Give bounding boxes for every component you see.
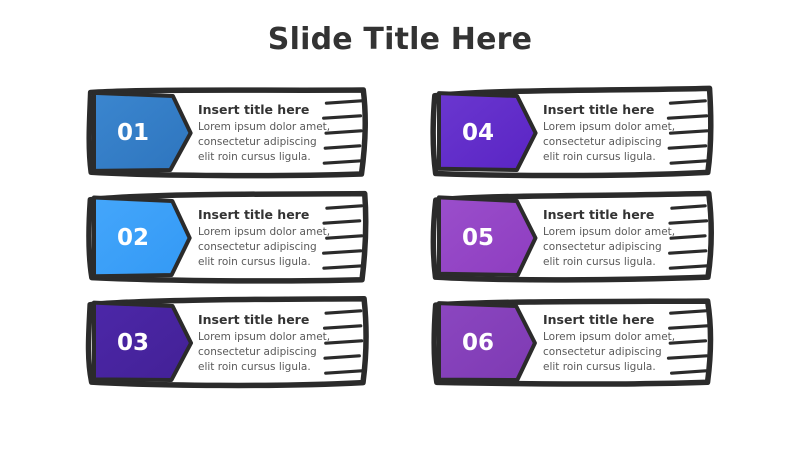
card-05[interactable]: 05Insert title hereLorem ipsum dolor ame… — [433, 193, 713, 283]
page-title: Slide Title Here — [0, 22, 800, 57]
card-title: Insert title here — [543, 312, 678, 328]
card-body: Lorem ipsum dolor amet, consectetur adip… — [543, 330, 678, 375]
slide-canvas: Slide Title Here 01Insert title hereLore… — [0, 0, 800, 450]
card-06[interactable]: 06Insert title hereLorem ipsum dolor ame… — [433, 298, 713, 388]
card-text-block: Insert title hereLorem ipsum dolor amet,… — [543, 312, 678, 375]
card-03[interactable]: 03Insert title hereLorem ipsum dolor ame… — [88, 298, 368, 388]
card-text-block: Insert title hereLorem ipsum dolor amet,… — [198, 102, 333, 165]
card-02[interactable]: 02Insert title hereLorem ipsum dolor ame… — [88, 193, 368, 283]
card-04[interactable]: 04Insert title hereLorem ipsum dolor ame… — [433, 88, 713, 178]
card-01[interactable]: 01Insert title hereLorem ipsum dolor ame… — [88, 88, 368, 178]
number-chevron — [94, 93, 191, 171]
card-title: Insert title here — [198, 207, 333, 223]
card-body: Lorem ipsum dolor amet, consectetur adip… — [198, 225, 333, 270]
card-body: Lorem ipsum dolor amet, consectetur adip… — [543, 120, 678, 165]
card-title: Insert title here — [198, 312, 333, 328]
number-chevron — [94, 303, 191, 380]
card-text-block: Insert title hereLorem ipsum dolor amet,… — [543, 207, 678, 270]
card-body: Lorem ipsum dolor amet, consectetur adip… — [543, 225, 678, 270]
card-title: Insert title here — [543, 207, 678, 223]
card-title: Insert title here — [198, 102, 333, 118]
number-chevron — [94, 197, 190, 276]
card-body: Lorem ipsum dolor amet, consectetur adip… — [198, 330, 333, 375]
number-chevron — [439, 197, 535, 275]
card-text-block: Insert title hereLorem ipsum dolor amet,… — [198, 312, 333, 375]
card-text-block: Insert title hereLorem ipsum dolor amet,… — [543, 102, 678, 165]
card-title: Insert title here — [543, 102, 678, 118]
number-chevron — [439, 303, 535, 380]
number-chevron — [439, 93, 536, 170]
card-text-block: Insert title hereLorem ipsum dolor amet,… — [198, 207, 333, 270]
card-body: Lorem ipsum dolor amet, consectetur adip… — [198, 120, 333, 165]
